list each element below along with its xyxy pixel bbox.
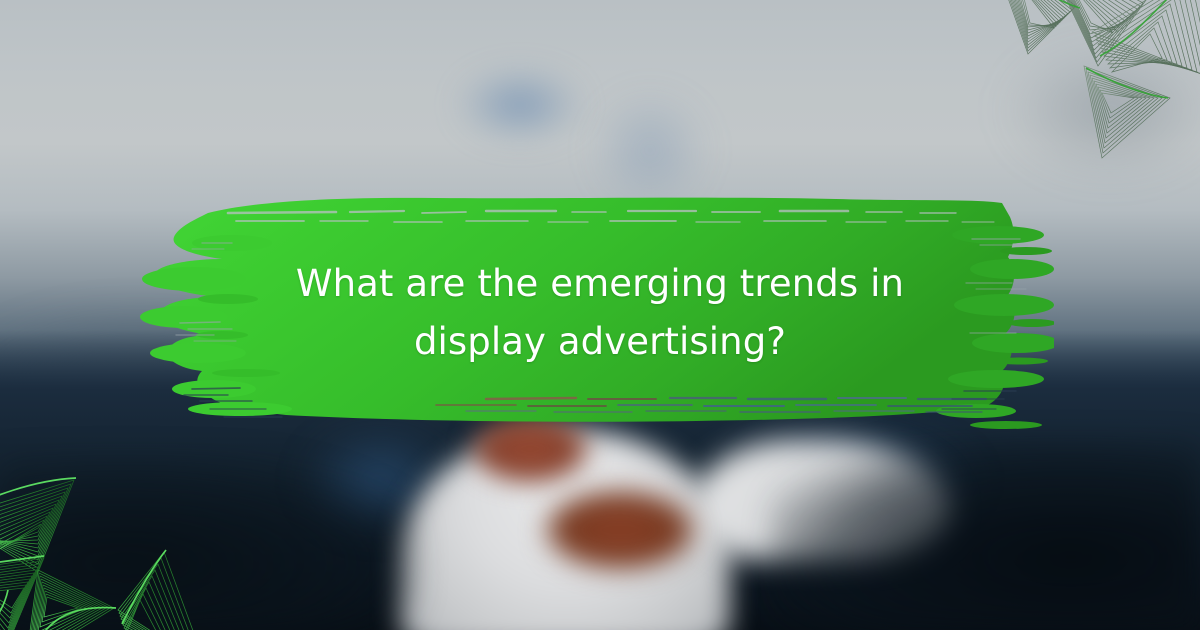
headline-text: What are the emerging trends in display …	[296, 262, 904, 363]
social-card: What are the emerging trends in display …	[0, 0, 1200, 630]
background-vignette-bottom-left	[0, 455, 420, 630]
background-person-chest	[545, 490, 695, 570]
background-vignette-bottom-right	[770, 440, 1200, 630]
background-blue-blob	[460, 70, 580, 140]
background-grey-blob-right	[1000, 40, 1200, 180]
page-title: What are the emerging trends in display …	[0, 255, 1200, 371]
